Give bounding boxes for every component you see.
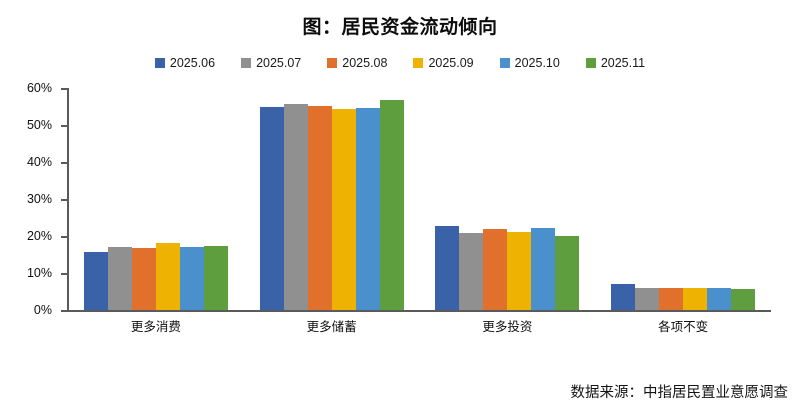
y-axis-tick-mark <box>61 88 67 90</box>
bar[interactable] <box>683 288 707 310</box>
x-axis-category-label: 更多消费 <box>68 316 244 335</box>
y-axis-tick-label: 10% <box>27 266 52 280</box>
bar[interactable] <box>531 228 555 311</box>
chart-title: 图：居民资金流动倾向 <box>0 12 800 39</box>
bar-group <box>595 88 771 310</box>
bar[interactable] <box>635 288 659 310</box>
legend-item-label: 2025.11 <box>601 56 645 70</box>
legend-item-label: 2025.08 <box>342 56 387 70</box>
legend-swatch-icon <box>155 58 165 68</box>
y-axis-tick-label: 40% <box>27 155 52 169</box>
bar[interactable] <box>659 288 683 310</box>
bar-group <box>244 88 420 310</box>
x-axis-category-label: 各项不变 <box>595 316 771 335</box>
source-note: 数据来源：中指居民置业意愿调查 <box>571 381 789 402</box>
legend-item[interactable]: 2025.07 <box>241 56 301 70</box>
y-axis-tick-label: 50% <box>27 118 52 132</box>
plot-area: 0%10%20%30%40%50%60% 更多消费更多储蓄更多投资各项不变 <box>0 88 800 328</box>
legend-swatch-icon <box>586 58 596 68</box>
legend-item[interactable]: 2025.06 <box>155 56 215 70</box>
legend-item[interactable]: 2025.08 <box>327 56 387 70</box>
x-axis-category-label: 更多储蓄 <box>244 316 420 335</box>
y-axis-tick-label: 20% <box>27 229 52 243</box>
bar-group <box>420 88 596 310</box>
legend-swatch-icon <box>241 58 251 68</box>
x-axis: 更多消费更多储蓄更多投资各项不变 <box>68 316 771 335</box>
bar[interactable] <box>260 107 284 310</box>
y-axis-tick-label: 60% <box>27 81 52 95</box>
legend-item-label: 2025.09 <box>428 56 473 70</box>
legend-item[interactable]: 2025.11 <box>586 56 645 70</box>
legend-item[interactable]: 2025.09 <box>413 56 473 70</box>
bar[interactable] <box>132 248 156 310</box>
bar[interactable] <box>380 100 404 310</box>
bar[interactable] <box>84 252 108 310</box>
legend-swatch-icon <box>500 58 510 68</box>
bar[interactable] <box>731 289 755 310</box>
y-axis-tick-mark <box>61 236 67 238</box>
legend-swatch-icon <box>413 58 423 68</box>
bar[interactable] <box>507 232 531 310</box>
legend-item[interactable]: 2025.10 <box>500 56 560 70</box>
y-axis-tick-label: 30% <box>27 192 52 206</box>
y-axis: 0%10%20%30%40%50%60% <box>0 88 58 311</box>
bar[interactable] <box>156 243 180 310</box>
x-axis-category-label: 更多投资 <box>420 316 596 335</box>
bar[interactable] <box>332 109 356 310</box>
y-axis-tick-mark <box>61 199 67 201</box>
bar[interactable] <box>555 236 579 310</box>
bar[interactable] <box>284 104 308 310</box>
legend-swatch-icon <box>327 58 337 68</box>
legend-item-label: 2025.10 <box>515 56 560 70</box>
bar[interactable] <box>108 247 132 310</box>
x-axis-line <box>67 310 771 312</box>
bar[interactable] <box>707 288 731 310</box>
y-axis-tick-mark <box>61 162 67 164</box>
bar[interactable] <box>204 246 228 310</box>
bar-group <box>68 88 244 310</box>
bar[interactable] <box>459 233 483 310</box>
bar-groups <box>68 88 771 310</box>
y-axis-tick-mark <box>61 273 67 275</box>
bar[interactable] <box>308 106 332 310</box>
chart-container: 图：居民资金流动倾向 2025.062025.072025.082025.092… <box>0 0 800 412</box>
chart-legend: 2025.062025.072025.082025.092025.102025.… <box>0 56 800 70</box>
y-axis-tick-mark <box>61 310 67 312</box>
legend-item-label: 2025.07 <box>256 56 301 70</box>
bar[interactable] <box>611 284 635 310</box>
y-axis-tick-label: 0% <box>34 303 52 317</box>
y-axis-tick-mark <box>61 125 67 127</box>
bar[interactable] <box>180 247 204 310</box>
bar[interactable] <box>483 229 507 310</box>
legend-item-label: 2025.06 <box>170 56 215 70</box>
bar[interactable] <box>356 108 380 310</box>
bar[interactable] <box>435 226 459 310</box>
